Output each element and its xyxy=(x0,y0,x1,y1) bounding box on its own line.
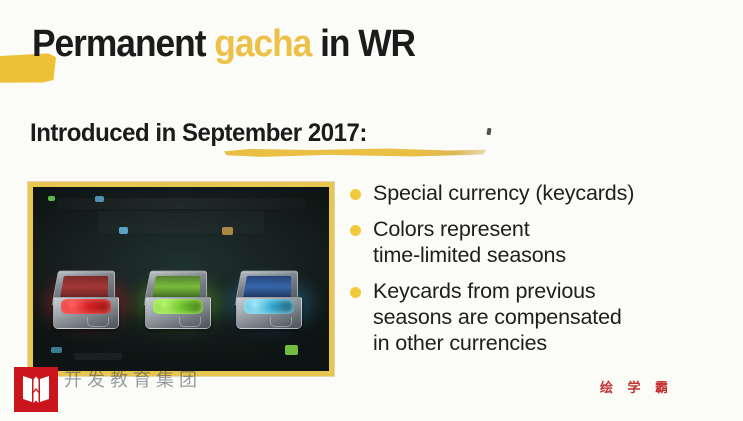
bullet-text: Keycards from previous seasons are compe… xyxy=(373,278,622,356)
w-book-logo-icon xyxy=(14,367,58,412)
list-item: Colors represent time-limited seasons xyxy=(350,216,742,268)
case-body-red xyxy=(53,297,119,329)
subtitle: Introduced in September 2017: xyxy=(30,119,367,148)
loot-case-red xyxy=(51,269,123,331)
hud-indicator-top-left xyxy=(48,196,55,201)
bullet-dot-icon xyxy=(350,189,361,200)
list-item: Keycards from previous seasons are compe… xyxy=(350,278,742,356)
bullet-list: Special currency (keycards) Colors repre… xyxy=(350,180,742,366)
hud-top-bar xyxy=(57,198,306,209)
hud-indicator-amber xyxy=(222,227,233,235)
title-suffix: in WR xyxy=(311,23,415,65)
bullet-dot-icon xyxy=(350,287,361,298)
case-handle-red xyxy=(87,317,109,327)
presentation-slide: Permanent gacha in WR Introduced in Sept… xyxy=(0,0,743,421)
hud-indicator-bottom-right xyxy=(285,345,298,355)
bullet-text: Special currency (keycards) xyxy=(373,180,634,206)
hud-bar-bottom-left xyxy=(74,353,121,360)
watermark-left-text: 开发教育集团 xyxy=(64,366,202,392)
subtitle-speck-artifact xyxy=(486,128,491,136)
bullet-text: Colors represent time-limited seasons xyxy=(373,216,566,268)
screenshot-image-frame xyxy=(28,182,334,376)
case-body-blue xyxy=(236,297,302,329)
watermark-right-text: 绘 学 霸 xyxy=(600,377,673,396)
title-highlight: gacha xyxy=(214,23,311,65)
title-prefix: Permanent xyxy=(32,23,214,65)
case-gems-red xyxy=(61,299,111,314)
subtitle-underline-brush xyxy=(224,148,486,157)
hud-indicator-blue-2 xyxy=(119,227,128,234)
loot-case-green xyxy=(143,269,215,331)
case-handle-green xyxy=(179,317,201,327)
brand-logo xyxy=(14,367,58,412)
loot-case-blue xyxy=(234,269,306,331)
case-body-green xyxy=(145,297,211,329)
hud-indicator-blue xyxy=(95,196,104,202)
bullet-dot-icon xyxy=(350,225,361,236)
hud-indicator-bottom-left xyxy=(51,347,62,353)
page-title: Permanent gacha in WR xyxy=(32,23,415,66)
case-gems-blue xyxy=(244,299,294,314)
case-handle-blue xyxy=(270,317,292,327)
list-item: Special currency (keycards) xyxy=(350,180,742,206)
game-screenshot xyxy=(33,187,329,371)
case-gems-green xyxy=(153,299,203,314)
